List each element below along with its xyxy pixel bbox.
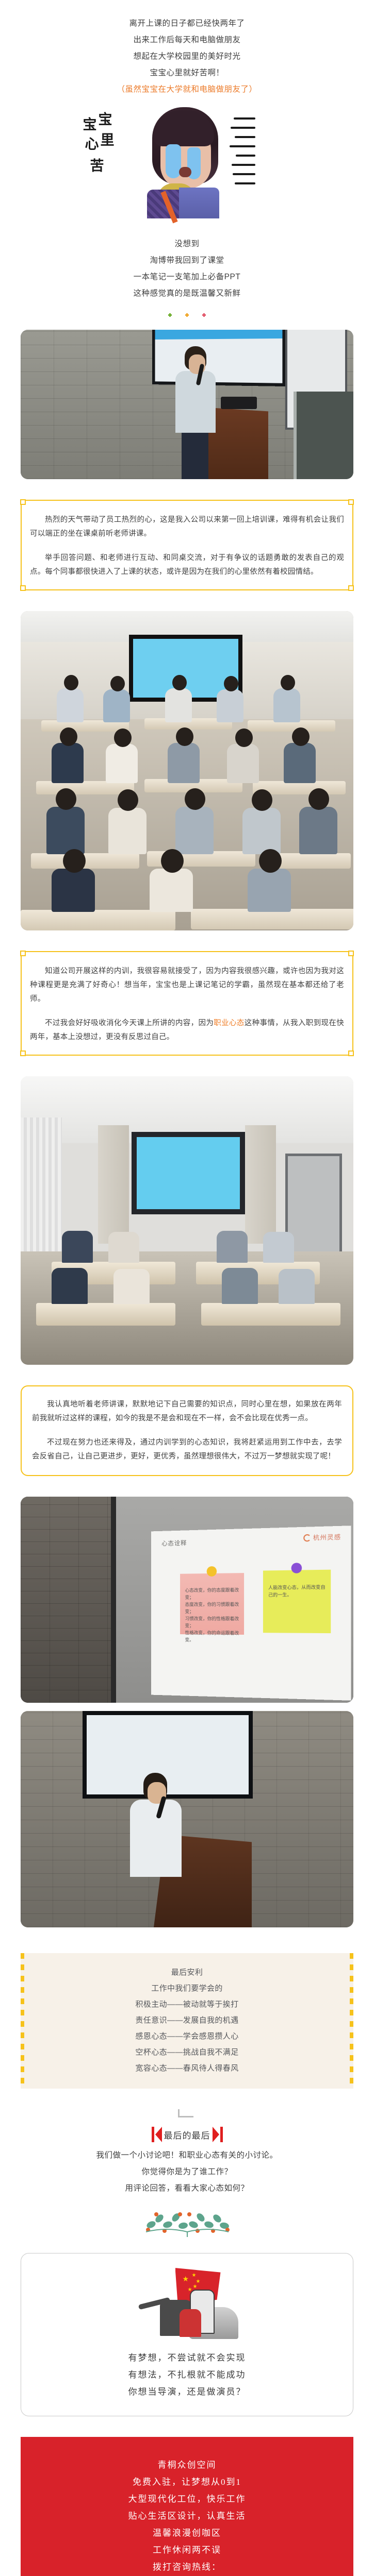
quote2-paragraph-1: 知道公司开展这样的内训，我很容易就接受了，因为内容我很感兴趣，或许也因为我对这种… [30,964,344,1006]
intro-accent-line: （虽然宝宝在大学就和电脑做朋友了） [21,81,353,98]
cta-line-2: 免费入驻，让梦想从0到1 [31,2473,343,2490]
summary-line-7: 宽容心态——春风待人得春风 [31,2060,343,2076]
corner-bracket-decoration [21,2104,353,2125]
article-page: 离开上课的日子都已经快两年了 出来工作后每天和电脑做朋友 想起在大学校园里的美好… [0,0,374,2576]
sticky-note-pink: 心态改变，你的态度跟着改变；态度改变，你的习惯跟着改变；习惯改变，你的性格跟着改… [180,1573,244,1635]
quote1-paragraph-1: 热烈的天气带动了员工热烈的心，这是我入公司以来第一回上培训课，难得有机会让我们可… [30,513,344,541]
quote-box-1: 热烈的天气带动了员工热烈的心，这是我入公司以来第一回上培训课，难得有机会让我们可… [21,500,353,590]
photo-ppt-slide-closeup: 心态诠释 杭州灵感 心态改变，你的态度跟着改变；态度改变，你的习惯跟着改变；习惯… [21,1497,353,1703]
card-line-1: 有梦想，不尝试就不会实现 [31,2349,343,2366]
intro-line-3: 想起在大学校园里的美好时光 [21,48,353,65]
photo-wide-training-room [21,1076,353,1365]
final-line-1: 我们做一个小讨论吧！和职业心态有关的小讨论。 [21,2147,353,2164]
summary-line-1: 最后安利 [31,1964,343,1980]
card-line-3: 你想当导演，还是做演员？ [31,2383,343,2400]
final-line-2: 你觉得你是为了谁工作？ [21,2164,353,2180]
summary-line-3: 积极主动——被动就等于挨打 [31,1996,343,2012]
intro-line-4: 宝宝心里就好苦啊！ [21,65,353,81]
quote2-text-before: 不过我会好好吸收消化今天课上所讲的内容，因为 [45,1019,214,1027]
meme-char-2: 宝 [99,109,145,131]
final-heading-text: 最后的最后 [162,2128,213,2141]
sticky-note-yellow: 人能改变心态，从而改变自己的一生。 [263,1570,331,1633]
divider-dot-green [168,313,172,317]
quote3-paragraph-2: 不过现在努力也还来得及，通过内训学到的心态知识，我将赶紧运用到工作中去，去学会反… [32,1436,342,1464]
cta-line-1: 青桐众创空间 [31,2456,343,2473]
intro2-line-4: 这种感觉真的是既温馨又新鲜 [21,285,353,302]
final-section-heading: 最后的最后 [0,2125,374,2147]
summary-panel: 最后安利 工作中我们要学会的 积极主动——被动就等于挨打 责任意识——发展自我的… [21,1953,353,2089]
summary-line-4: 责任意识——发展自我的机遇 [31,2012,343,2028]
meme-char-5: 苦 [90,156,145,177]
quote2-highlight: 职业心态 [214,1019,245,1027]
final-text-block: 我们做一个小讨论吧！和职业心态有关的小讨论。 你觉得你是为了谁工作？ 用评论回答… [0,2147,374,2197]
divider-dot-orange [185,313,189,317]
cta-line-5: 温馨浪漫创咖区 [31,2524,343,2541]
slide-title-text: 心态诠释 [161,1538,187,1548]
slide-logo: 杭州灵感 [303,1532,341,1542]
slogan-card: ★ ★ ★ ★ ★ 有梦想，不尝试就不会实现 有想法，不扎根就不能成功 你想当导… [21,2253,353,2416]
photo-classroom-students [21,611,353,930]
cta-line-4: 贴心生活区设计，认真生活 [31,2507,343,2524]
leaf-ornament [0,2197,374,2243]
recruitment-cta-block: 青桐众创空间 免费入驻，让梦想从0到1 大型现代化工位，快乐工作 贴心生活区设计… [21,2437,353,2576]
summary-line-5: 感恩心态——学会感恩攒人心 [31,2028,343,2044]
intro-line-1: 离开上课的日子都已经快两年了 [21,15,353,32]
quote-box-2: 知道公司开展这样的内训，我很容易就接受了，因为内容我很感兴趣，或许也因为我对这种… [21,951,353,1056]
cta-hotline-label: 拨打咨询热线： [31,2558,343,2575]
intro2-text-block: 没想到 淘博带我回到了课堂 一本笔记一支笔加上必备PPT 这种感觉真的是既温馨又… [0,236,374,302]
intro-text-block: 离开上课的日子都已经快两年了 出来工作后每天和电脑做朋友 想起在大学校园里的美好… [0,15,374,98]
meme-char-4: 里 [101,130,145,151]
divider-dot-pink [202,313,206,317]
intro2-line-3: 一本笔记一支笔加上必备PPT [21,269,353,285]
quote3-paragraph-1: 我认真地听着老师讲课，默默地记下自己需要的知识点，同时心里在想，如果放在两年前我… [32,1398,342,1426]
crying-face-image [145,107,227,218]
photo-lecturer-at-podium [21,330,353,479]
quote-box-3: 我认真地听着老师讲课，默默地记下自己需要的知识点，同时心里在想，如果放在两年前我… [21,1385,353,1476]
cta-line-6: 工作休闲两不误 [31,2541,343,2558]
meme-caption-characters: 宝 宝 心 里 苦 [83,114,145,177]
intro-line-2: 出来工作后每天和电脑做朋友 [21,32,353,48]
final-line-3: 用评论回答，看看大家心态如何？ [21,2180,353,2197]
crying-meme-sticker: 宝 宝 心 里 苦 [79,107,296,226]
summary-line-2: 工作中我们要学会的 [31,1980,343,1996]
card-line-2: 有想法，不扎根就不能成功 [31,2366,343,2383]
speed-lines-decoration [230,117,261,210]
dot-divider [0,302,374,325]
cta-line-3: 大型现代化工位，快乐工作 [31,2490,343,2507]
quote1-paragraph-2: 举手回答问题、和老师进行互动、和同桌交流，对于有争议的话题勇敢的发表自己的观点。… [30,551,344,579]
intro2-line-1: 没想到 [21,236,353,252]
red-flag-illustration: ★ ★ ★ ★ ★ [128,2267,247,2344]
quote2-paragraph-2: 不过我会好好吸收消化今天课上所讲的内容，因为职业心态这种事情，从我入职到现在快两… [30,1016,344,1044]
intro2-line-2: 淘博带我回到了课堂 [21,252,353,269]
photo-speaker-with-microphone [21,1711,353,1927]
summary-line-6: 空杯心态——挑战自我不满足 [31,2044,343,2060]
